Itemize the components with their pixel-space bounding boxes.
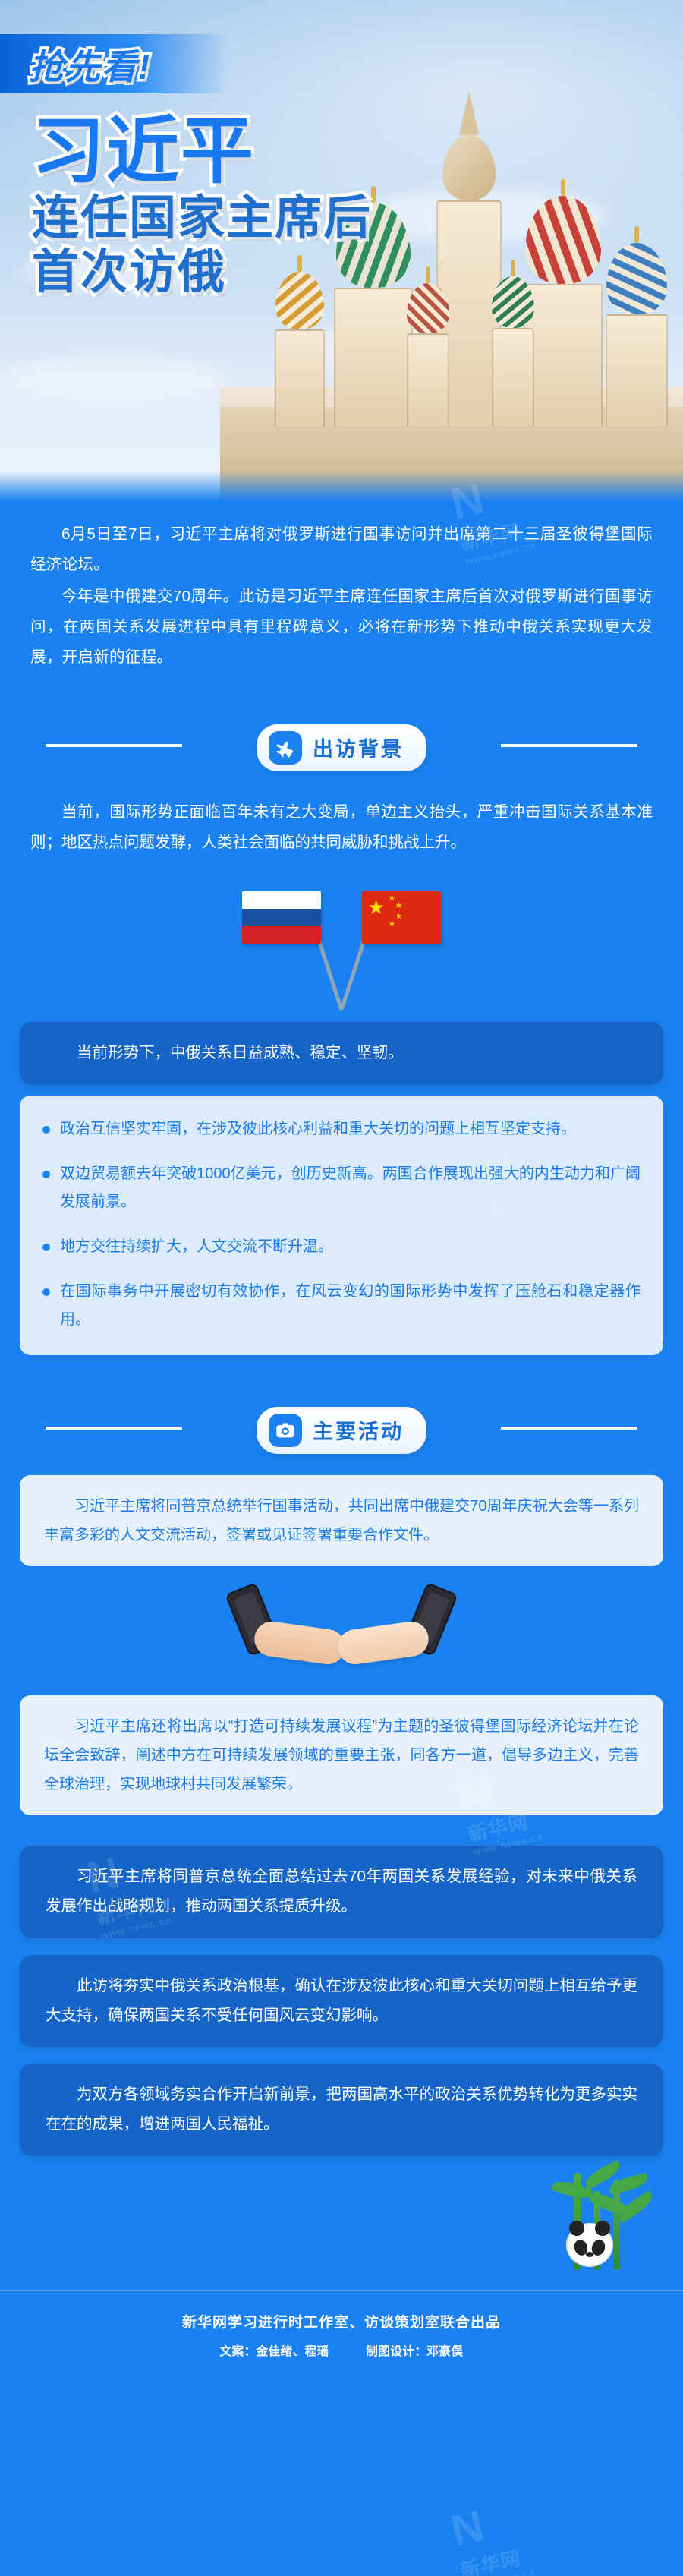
infographic-page: 抢先看! 习近平 连任国家主席后 首次访俄 6月5日至7日，习近平主席将对俄罗斯… <box>0 0 683 2576</box>
intro-paragraph-1: 6月5日至7日，习近平主席将对俄罗斯进行国事访问并出席第二十三届圣彼得堡国际经济… <box>30 519 653 580</box>
cathedral-dome-far-right <box>606 238 668 428</box>
outcome-callout-3: 为双方各领域务实合作开启新前景，把两国高水平的政治关系优势转化为更多实实在在的成… <box>20 2064 663 2156</box>
outcome-text-3: 为双方各领域务实合作开启新前景，把两国高水平的政治关系优势转化为更多实实在在的成… <box>46 2080 637 2139</box>
section-header-activities: 主要活动 <box>0 1384 683 1475</box>
activities-card-1-text: 习近平主席将同普京总统举行国事活动，共同出席中俄建交70周年庆祝大会等一系列丰富… <box>44 1492 639 1550</box>
outcome-text-1: 习近平主席将同普京总统全面总结过去70年两国关系发展经验，对未来中俄关系发展作出… <box>46 1862 637 1922</box>
cloud-decoration <box>0 357 228 402</box>
background-callout-text: 当前形势下，中俄关系日益成熟、稳定、坚韧。 <box>46 1039 637 1068</box>
bullet-text: 双边贸易额去年突破1000亿美元，创历史新高。两国合作展现出强大的内生动力和广阔… <box>60 1160 641 1216</box>
airplane-icon <box>269 731 302 765</box>
bullet-dot-icon <box>42 1126 50 1134</box>
flags-illustration: ★ ★ ★ ★ ★ <box>0 878 683 1022</box>
footer-credits: 文案：金佳绪、程瑶 制图设计：邓豪俣 <box>30 2342 653 2359</box>
outcome-text-2: 此访将夯实中俄关系政治根基，确认在涉及彼此核心和重大关切问题上相互给予更大支持，… <box>46 1972 637 2031</box>
bullet-text: 地方交往持续扩大，人文交流不断升温。 <box>60 1233 333 1261</box>
section-rule-left <box>46 1427 182 1430</box>
hand-icon <box>252 1619 347 1666</box>
outcome-callout-2: 此访将夯实中俄关系政治根基，确认在涉及彼此核心和重大关切问题上相互给予更大支持，… <box>20 1955 663 2048</box>
list-item: 地方交往持续扩大，人文交流不断升温。 <box>42 1233 641 1261</box>
section-pill-background: 出访背景 <box>257 724 426 771</box>
activities-card-2-text: 习近平主席还将出席以“打造可持续发展议程”为主题的圣彼得堡国际经济论坛并在论坛全… <box>44 1712 639 1799</box>
list-item: 在国际事务中开展密切有效协作，在风云变幻的国际形势中发挥了压舱石和稳定器作用。 <box>42 1278 641 1334</box>
section-rule-right <box>501 1427 637 1430</box>
china-flag-icon: ★ ★ ★ ★ ★ <box>362 891 441 944</box>
background-callout: 当前形势下，中俄关系日益成熟、稳定、坚韧。 <box>20 1022 663 1085</box>
panda-icon <box>566 2223 613 2267</box>
watermark-name: 新华网 <box>458 2540 534 2576</box>
bullet-dot-icon <box>42 1288 50 1296</box>
list-item: 政治互信坚实牢固，在涉及彼此核心利益和重大关切的问题上相互坚定支持。 <box>42 1115 641 1143</box>
cathedral-dome-mid <box>407 276 449 428</box>
section-title-activities: 主要活动 <box>313 1415 404 1445</box>
section-title-background: 出访背景 <box>313 733 404 762</box>
panda-bamboo-illustration <box>0 2156 683 2270</box>
hero-badge-label: 抢先看! <box>29 39 151 90</box>
intro-paragraph-2: 今年是中俄建交70周年。此访是习近平主席连任国家主席后首次对俄罗斯进行国事访问，… <box>30 582 653 673</box>
intro-block: 6月5日至7日，习近平主席将对俄罗斯进行国事访问并出席第二十三届圣彼得堡国际经济… <box>0 501 683 695</box>
hero-title-line-3: 首次访俄 <box>32 246 372 298</box>
list-item: 双边贸易额去年突破1000亿美元，创历史新高。两国合作展现出强大的内生动力和广阔… <box>42 1160 641 1216</box>
bullet-text: 在国际事务中开展密切有效协作，在风云变幻的国际形势中发挥了压舱石和稳定器作用。 <box>60 1278 641 1334</box>
section-pill-activities: 主要活动 <box>257 1407 426 1454</box>
bullet-dot-icon <box>42 1171 50 1178</box>
cathedral-dome-mid-right <box>492 269 534 428</box>
section-rule-right <box>501 744 637 747</box>
background-lead-text: 当前，国际形势正面临百年未有之大变局，单边主义抬头，严重冲击国际关系基本准则；地… <box>30 797 653 858</box>
outcome-callout-1: 习近平主席将同普京总统全面总结过去70年两国关系发展经验，对未来中俄关系发展作出… <box>20 1846 663 1938</box>
footer-producer: 新华网学习进行时工作室、访谈策划室联合出品 <box>30 2311 653 2332</box>
activities-card-2: 习近平主席还将出席以“打造可持续发展议程”为主题的圣彼得堡国际经济论坛并在论坛全… <box>20 1695 663 1815</box>
camera-icon <box>269 1414 302 1447</box>
bullet-text: 政治互信坚实牢固，在涉及彼此核心利益和重大关切的问题上相互坚定支持。 <box>60 1115 576 1143</box>
footer: 新华网学习进行时工作室、访谈策划室联合出品 文案：金佳绪、程瑶 制图设计：邓豪俣 <box>0 2290 683 2385</box>
hero-title-line-2: 连任国家主席后 <box>32 192 372 244</box>
footer-credit-design: 制图设计：邓豪俣 <box>366 2345 463 2358</box>
russia-flag-icon <box>242 891 321 944</box>
hand-icon <box>335 1619 430 1666</box>
hero-fade <box>0 433 683 501</box>
cathedral-dome-right <box>524 193 603 428</box>
background-bullet-card: 政治互信坚实牢固，在涉及彼此核心利益和重大关切的问题上相互坚定支持。 双边贸易额… <box>20 1096 663 1355</box>
hero-title-line-1: 习近平 <box>32 114 372 191</box>
activities-card-1: 习近平主席将同普京总统举行国事活动，共同出席中俄建交70周年庆祝大会等一系列丰富… <box>20 1475 663 1566</box>
hero-title: 习近平 连任国家主席后 首次访俄 <box>32 114 372 299</box>
section-header-background: 出访背景 <box>0 702 683 793</box>
hero-banner: 抢先看! 习近平 连任国家主席后 首次访俄 <box>0 0 683 501</box>
bullet-dot-icon <box>42 1244 50 1251</box>
watermark: N 新华网 www.news.cn <box>446 2491 537 2576</box>
background-lead-block: 当前，国际形势正面临百年未有之大变局，单边主义抬头，严重冲击国际关系基本准则；地… <box>0 793 683 878</box>
handshake-illustration <box>0 1566 683 1695</box>
watermark-url: www.news.cn <box>464 2567 537 2576</box>
section-rule-left <box>46 744 182 747</box>
watermark-mark: N <box>446 2501 486 2556</box>
footer-credit-copy: 文案：金佳绪、程瑶 <box>220 2345 329 2358</box>
